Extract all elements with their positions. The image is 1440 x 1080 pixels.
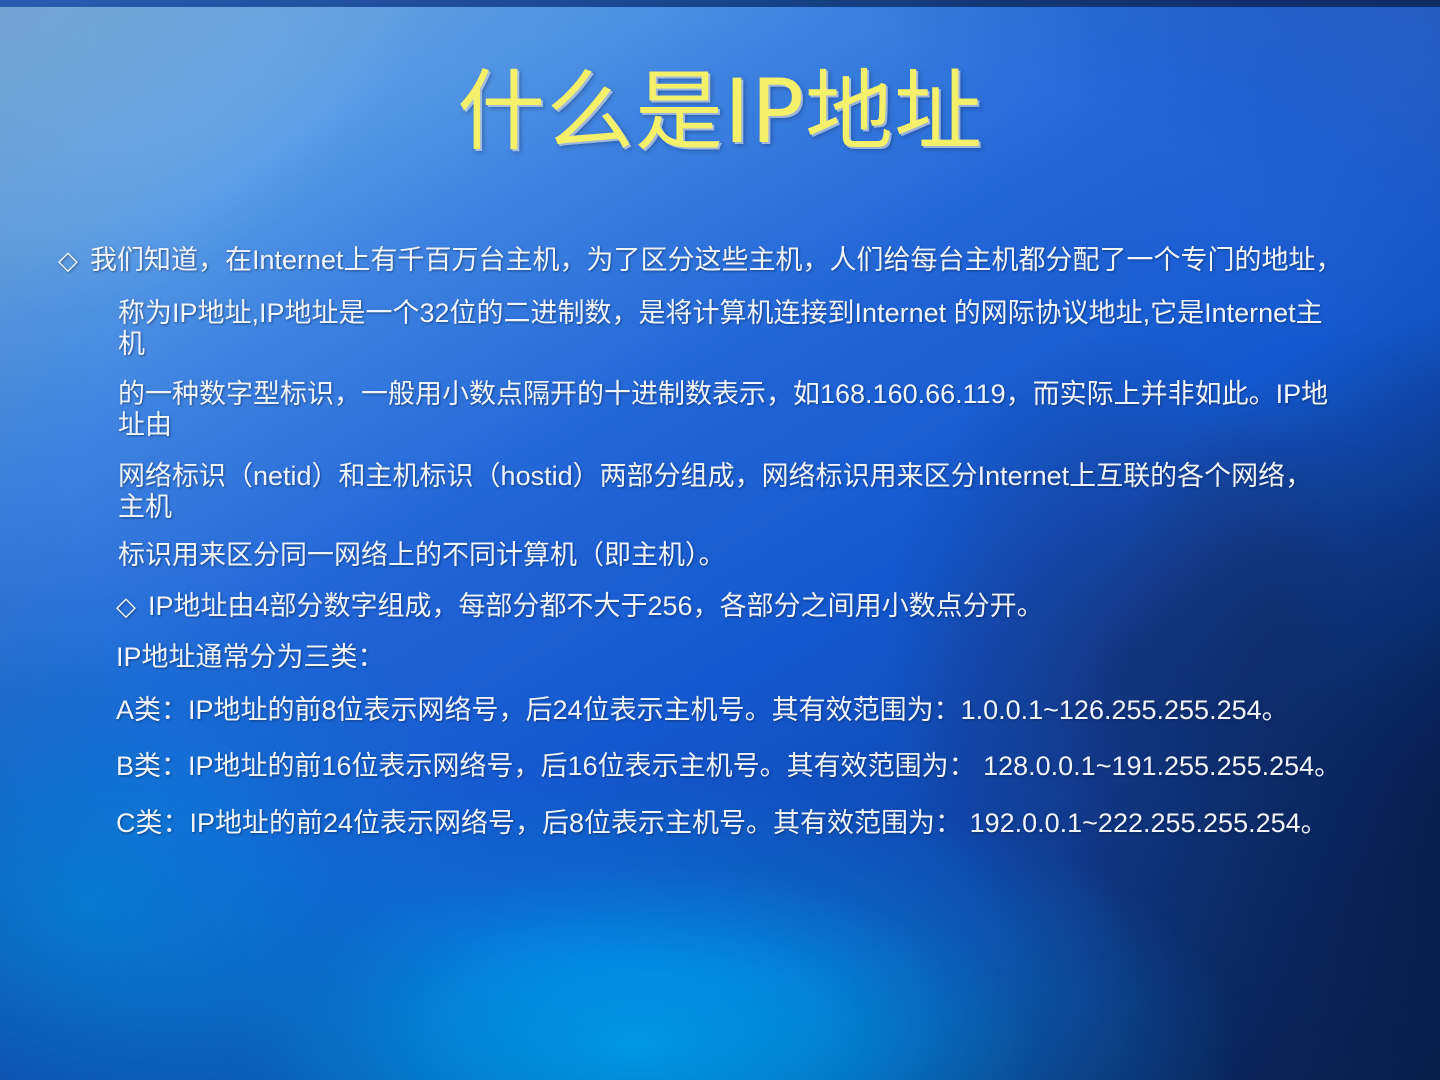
class-c-range: 192.0.0.1~222.255.255.254: [962, 808, 1301, 838]
class-b-end: 。: [1314, 751, 1341, 781]
class-a-line: A类：IP地址的前8位表示网络号，后24位表示主机号。其有效范围为：1.0.0.…: [116, 695, 1403, 726]
paragraph-cheng-line1: 称为IP地址,IP地址是一个32位的二进制数，是将计算机连接到Internet …: [118, 298, 1323, 328]
paragraph-wangluo-line1: 网络标识（netid）和主机标识（hostid）两部分组成，网络标识用来区分In…: [118, 461, 1312, 491]
paragraph-ip-parts-text: IP地址由4部分数字组成，每部分都不大于256，各部分之间用小数点分开。: [148, 591, 1044, 621]
class-c-line: C类：IP地址的前24位表示网络号，后8位表示主机号。其有效范围为： 192.0…: [116, 808, 1403, 839]
paragraph-de-line2: 址由: [118, 410, 1403, 441]
class-b-range: 128.0.0.1~191.255.255.254: [976, 751, 1315, 781]
paragraph-cheng: 称为IP地址,IP地址是一个32位的二进制数，是将计算机连接到Internet …: [118, 298, 1403, 360]
paragraph-wangluo-line2: 主机: [118, 492, 1403, 523]
paragraph-de-line1: 的一种数字型标识，一般用小数点隔开的十进制数表示，如168.160.66.119…: [118, 379, 1328, 409]
paragraph-intro-text: 我们知道，在Internet上有千百万台主机，为了区分这些主机，人们给每台主机都…: [90, 245, 1343, 275]
paragraph-wangluo: 网络标识（netid）和主机标识（hostid）两部分组成，网络标识用来区分In…: [118, 461, 1403, 523]
class-b-label: B类：IP地址的前16位表示网络号，后16位表示主机号。其有效范围为：: [116, 751, 976, 781]
paragraph-de: 的一种数字型标识，一般用小数点隔开的十进制数表示，如168.160.66.119…: [118, 379, 1403, 441]
class-a-label: A类：IP地址的前8位表示网络号，后24位表示主机号。其有效范围为：: [116, 695, 961, 725]
class-a-range: 1.0.0.1~126.255.255.254: [961, 695, 1262, 725]
class-a-end: 。: [1262, 695, 1289, 725]
paragraph-biaoshi: 标识用来区分同一网络上的不同计算机（即主机）。: [118, 540, 1403, 571]
class-c-end: 。: [1301, 808, 1328, 838]
paragraph-cheng-line2: 机: [118, 329, 1403, 360]
paragraph-three-classes-text: IP地址通常分为三类：: [116, 642, 385, 672]
paragraph-three-classes-heading: IP地址通常分为三类：: [116, 642, 1403, 673]
slide-body: ◇我们知道，在Internet上有千百万台主机，为了区分这些主机，人们给每台主机…: [58, 245, 1403, 865]
slide-content: 什么是IP地址 ◇我们知道，在Internet上有千百万台主机，为了区分这些主机…: [0, 0, 1440, 1080]
slide-title: 什么是IP地址: [0, 64, 1440, 159]
presentation-slide: 什么是IP地址 ◇我们知道，在Internet上有千百万台主机，为了区分这些主机…: [0, 0, 1440, 1080]
diamond-bullet-icon-2: ◇: [116, 591, 148, 621]
paragraph-biaoshi-text: 标识用来区分同一网络上的不同计算机（即主机）。: [118, 540, 726, 570]
paragraph-ip-parts: ◇IP地址由4部分数字组成，每部分都不大于256，各部分之间用小数点分开。: [116, 591, 1403, 622]
class-b-line: B类：IP地址的前16位表示网络号，后16位表示主机号。其有效范围为： 128.…: [116, 751, 1403, 782]
class-c-label: C类：IP地址的前24位表示网络号，后8位表示主机号。其有效范围为：: [116, 808, 962, 838]
paragraph-intro: ◇我们知道，在Internet上有千百万台主机，为了区分这些主机，人们给每台主机…: [58, 245, 1403, 276]
diamond-bullet-icon: ◇: [58, 245, 90, 275]
